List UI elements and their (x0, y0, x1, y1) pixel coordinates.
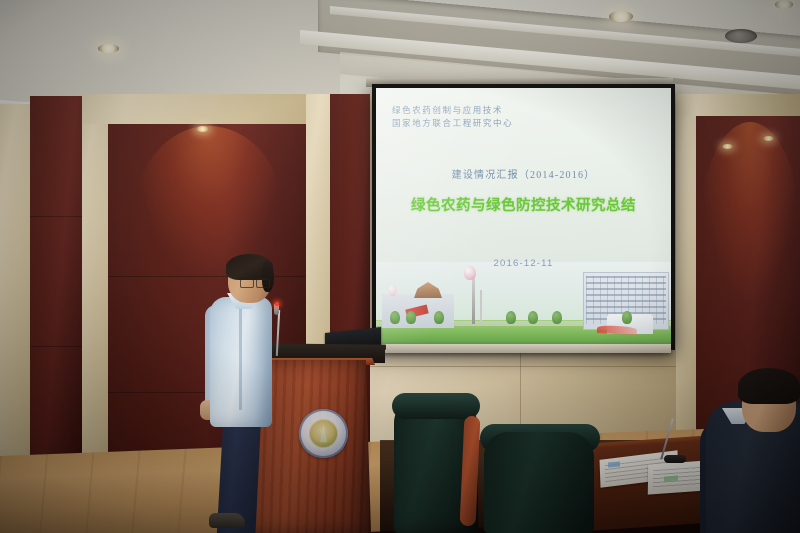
document-highlight (608, 461, 620, 467)
photo-tree (552, 311, 562, 324)
slide-header-line2: 国家地方联合工程研究中心 (392, 117, 513, 130)
wall-spotlight-icon (196, 126, 209, 132)
table-microphone-base (664, 455, 686, 463)
photo-pagoda-roof (414, 282, 442, 298)
photo-tree (406, 311, 416, 324)
photo-tree (506, 311, 516, 324)
ceiling-speaker-icon (725, 29, 757, 43)
photo-tree (528, 311, 538, 324)
chair-headroll (392, 393, 480, 419)
photo-balloon (388, 285, 397, 296)
slide-header-line1: 绿色农药创制与应用技术 (392, 104, 513, 117)
slide-date: 2016-12-11 (376, 258, 671, 269)
leather-armchair (484, 432, 594, 533)
downlight-icon (609, 11, 633, 22)
photo-flagpole (480, 290, 482, 322)
photo-scene: 绿色农药创制与应用技术 国家地方联合工程研究中心 建设情况汇报（2014-201… (0, 0, 800, 533)
slide-header: 绿色农药创制与应用技术 国家地方联合工程研究中心 (392, 104, 513, 130)
presenter-shoe (209, 513, 245, 528)
wall-pilaster-stone (82, 94, 110, 464)
photo-tree (390, 311, 400, 324)
microphone-led-icon (275, 302, 279, 306)
projection-screen-frame: 绿色农药创制与应用技术 国家地方联合工程研究中心 建设情况汇报（2014-201… (372, 84, 675, 350)
downlight-icon (775, 0, 793, 9)
wall-wood-strip (30, 96, 82, 464)
projection-screen: 绿色农药创制与应用技术 国家地方联合工程研究中心 建设情况汇报（2014-201… (376, 88, 671, 346)
shirt-placket (239, 305, 242, 410)
wall-header-stone (676, 94, 800, 116)
slide-subtitle: 建设情况汇报（2014-2016） (376, 166, 671, 181)
slide-title: 绿色农药与绿色防控技术研究总结 (376, 194, 671, 215)
photo-tower (472, 276, 475, 324)
screen-bottom-bar (368, 344, 671, 353)
eyeglasses-icon (240, 278, 270, 287)
university-emblem (299, 409, 348, 458)
wall-spotlight-icon (722, 144, 733, 149)
wall-header-stone (82, 94, 332, 124)
photo-tree (622, 311, 632, 324)
downlight-icon (98, 44, 119, 53)
wall-pilaster-stone (0, 104, 30, 464)
attendee-hair (738, 368, 800, 404)
wall-spotlight-icon (763, 136, 774, 141)
wall-pilaster-stone (676, 94, 698, 466)
photo-tree (434, 311, 444, 324)
campus-photo (376, 262, 671, 346)
